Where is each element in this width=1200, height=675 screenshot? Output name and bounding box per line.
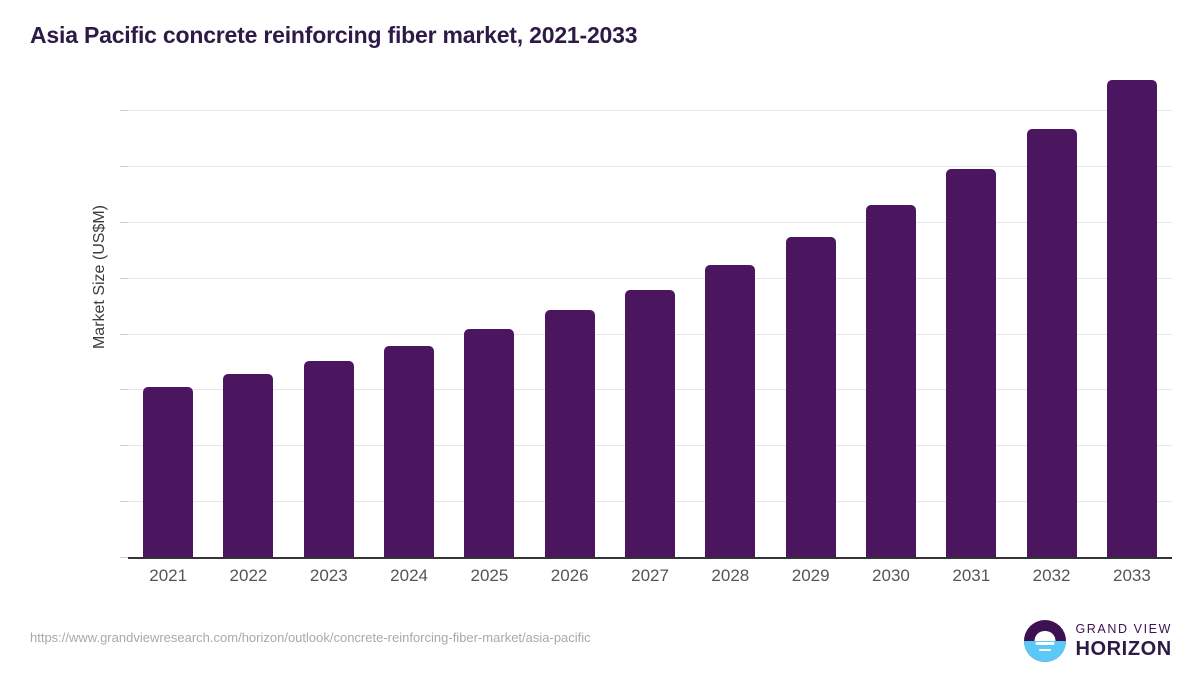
gridline-0: [128, 557, 1172, 559]
x-tick-label-2024: 2024: [369, 566, 449, 586]
bar-slot-2033: [1092, 110, 1172, 557]
bar-2022[interactable]: [223, 374, 273, 557]
logo-ray-2: [1039, 649, 1051, 652]
bar-2027[interactable]: [625, 290, 675, 557]
bar-slot-2023: [289, 110, 369, 557]
logo-sun-shape: [1035, 631, 1056, 642]
bar-2033[interactable]: [1107, 80, 1157, 557]
x-tick-label-2030: 2030: [851, 566, 931, 586]
y-tick-mark-250: [120, 501, 128, 502]
bar-slot-2026: [530, 110, 610, 557]
bar-2023[interactable]: [304, 361, 354, 557]
x-tick-label-2027: 2027: [610, 566, 690, 586]
bar-slot-2022: [208, 110, 288, 557]
bar-2028[interactable]: [705, 265, 755, 557]
bar-2030[interactable]: [866, 205, 916, 557]
bar-slot-2032: [1011, 110, 1091, 557]
x-tick-label-2025: 2025: [449, 566, 529, 586]
x-tick-label-2032: 2032: [1011, 566, 1091, 586]
y-tick-mark-1750: [120, 166, 128, 167]
y-tick-mark-1250: [120, 278, 128, 279]
x-tick-label-2028: 2028: [690, 566, 770, 586]
x-tick-label-2033: 2033: [1092, 566, 1172, 586]
x-tick-label-2026: 2026: [530, 566, 610, 586]
x-tick-label-2029: 2029: [771, 566, 851, 586]
bar-slot-2027: [610, 110, 690, 557]
y-tick-mark-1500: [120, 222, 128, 223]
logo-wordmark: GRAND VIEW HORIZON: [1075, 623, 1172, 659]
x-tick-label-2023: 2023: [289, 566, 369, 586]
y-tick-mark-750: [120, 389, 128, 390]
bar-slot-2028: [690, 110, 770, 557]
logo-text-line1: GRAND VIEW: [1075, 623, 1172, 636]
y-tick-mark-0: [120, 557, 128, 558]
bar-slot-2029: [771, 110, 851, 557]
bar-2029[interactable]: [786, 237, 836, 557]
chart-canvas: Asia Pacific concrete reinforcing fiber …: [0, 0, 1200, 675]
bar-2025[interactable]: [464, 329, 514, 557]
x-tick-label-2031: 2031: [931, 566, 1011, 586]
x-tick-label-2022: 2022: [208, 566, 288, 586]
y-tick-mark-2000: [120, 110, 128, 111]
bar-2026[interactable]: [545, 310, 595, 557]
logo-ray-1: [1036, 642, 1055, 645]
bar-2021[interactable]: [143, 387, 193, 557]
bar-2031[interactable]: [946, 169, 996, 557]
bar-slot-2030: [851, 110, 931, 557]
bar-2032[interactable]: [1027, 129, 1077, 557]
y-tick-mark-1000: [120, 334, 128, 335]
x-axis-labels: 2021202220232024202520262027202820292030…: [128, 566, 1172, 586]
x-tick-label-2021: 2021: [128, 566, 208, 586]
bar-slot-2025: [449, 110, 529, 557]
logo-text-line2: HORIZON: [1075, 639, 1172, 659]
y-axis-title: Market Size (US$M): [91, 157, 109, 397]
brand-logo: GRAND VIEW HORIZON: [1024, 618, 1172, 664]
horizon-sun-icon: [1024, 620, 1066, 662]
y-tick-mark-500: [120, 445, 128, 446]
bar-slot-2031: [931, 110, 1011, 557]
plot-area: Market Size (US$M) 025050075010001250150…: [0, 0, 1200, 675]
source-url[interactable]: https://www.grandviewresearch.com/horizo…: [30, 630, 591, 645]
bars-group: [128, 110, 1172, 557]
bar-slot-2021: [128, 110, 208, 557]
bar-slot-2024: [369, 110, 449, 557]
bar-2024[interactable]: [384, 346, 434, 557]
